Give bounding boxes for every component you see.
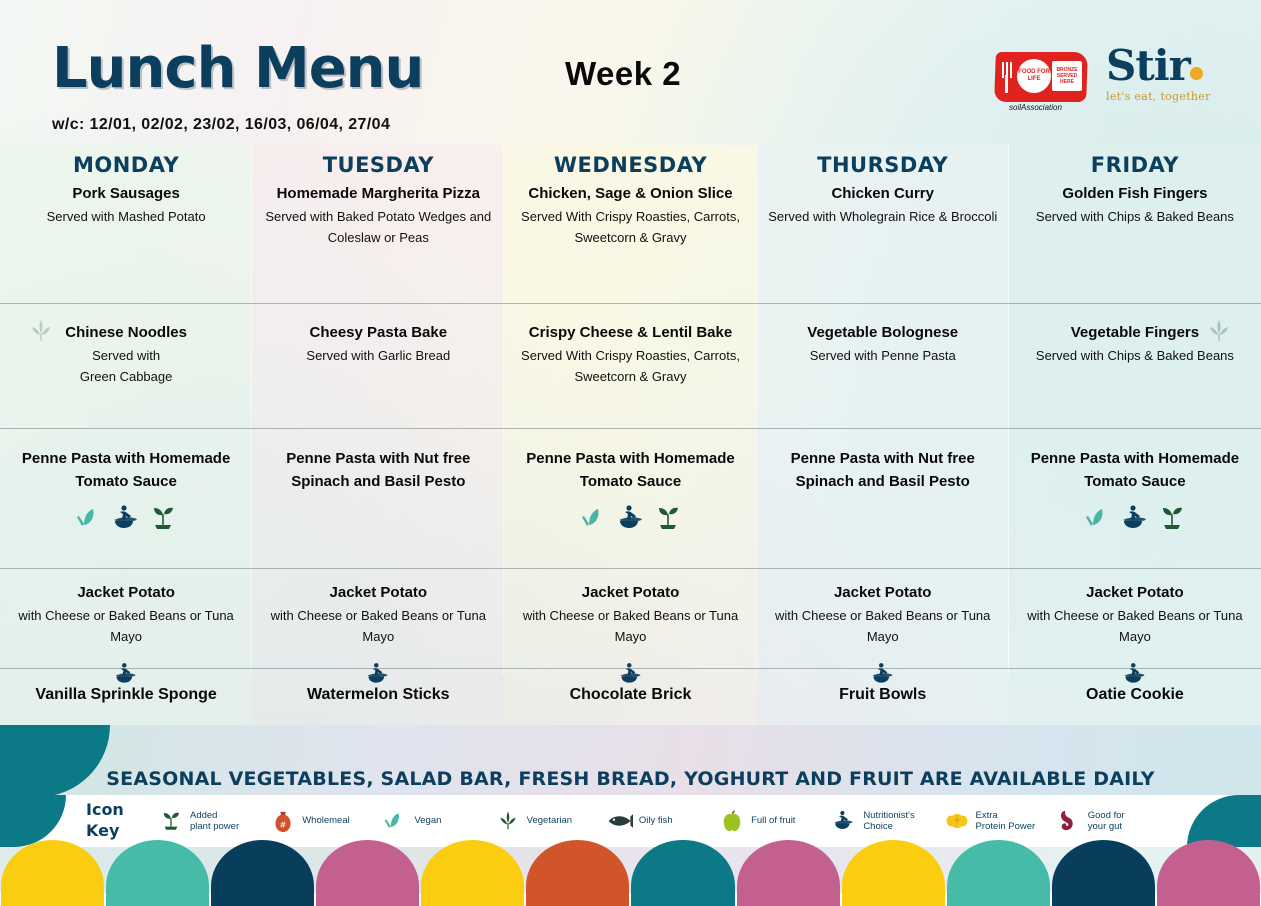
dessert-name: Watermelon Sticks (252, 668, 504, 704)
key-label-line2: Choice (863, 821, 893, 832)
main-dish-name: Pork Sausages (10, 182, 242, 205)
key-label-line1: Vegetarian (527, 815, 572, 826)
nutritionists-choice-icon (111, 503, 141, 533)
nutritionists-choice-icon (1120, 503, 1150, 533)
jacket-potato-row: Jacket Potato with Cheese or Baked Beans… (1009, 568, 1261, 668)
jacket-dish-name: Jacket Potato (1019, 581, 1251, 604)
main-dish-sub: Served with Chips & Baked Beans (1019, 206, 1251, 227)
jacket-dish-name: Jacket Potato (767, 581, 999, 604)
bronze-badge: BRONZE SERVED HERE (1052, 61, 1082, 91)
key-label-line1: Full of fruit (751, 815, 795, 826)
good-for-your-gut-icon (1056, 808, 1082, 834)
scallop (737, 840, 840, 906)
dessert-name: Chocolate Brick (504, 668, 756, 704)
vegetarian-dish-row: Cheesy Pasta Bake Served with Garlic Bre… (252, 303, 504, 428)
main-dish-name: Homemade Margherita Pizza (262, 182, 494, 205)
dessert-name: Vanilla Sprinkle Sponge (0, 668, 252, 704)
key-label-line2: your gut (1088, 821, 1122, 832)
key-label-line1: Added (190, 810, 217, 821)
icon-key-line2: Key (86, 820, 124, 841)
vegetarian-dish-row: Vegetable Fingers Served with Chips & Ba… (1009, 303, 1261, 428)
added-plant-power-icon (158, 808, 184, 834)
association-word: Association (1021, 103, 1062, 112)
scallop (947, 840, 1050, 906)
stir-dot-icon (1190, 67, 1203, 80)
pasta-dish-name: Penne Pasta with Homemade Tomato Sauce (1019, 447, 1251, 493)
key-label-line1: Vegan (414, 815, 441, 826)
key-label: Full of fruit (751, 815, 795, 827)
scallop (1157, 840, 1260, 906)
vegetarian-icon (495, 808, 521, 834)
key-label-line1: Wholemeal (302, 815, 350, 826)
scallop (526, 840, 629, 906)
veg-dish-name: Chinese Noodles (10, 321, 242, 344)
added-plant-power-icon (653, 503, 683, 533)
pasta-row: Penne Pasta with Homemade Tomato Sauce (1009, 428, 1261, 568)
jacket-potato-row: Jacket Potato with Cheese or Baked Beans… (0, 568, 252, 668)
menu-page: Lunch Menu Week 2 w/c: 12/01, 02/02, 23/… (0, 0, 1261, 893)
svg-text:#: # (280, 819, 287, 829)
main-dish-sub: Served with Mashed Potato (10, 206, 242, 227)
pasta-icon-row (504, 499, 756, 533)
pasta-row: Penne Pasta with Homemade Tomato Sauce (504, 428, 756, 568)
key-label-line1: Good for (1088, 810, 1125, 821)
key-item-added-plant-power: Added plant power (158, 808, 270, 834)
day-heading: THURSDAY (757, 153, 1009, 177)
icon-key-line1: Icon (86, 799, 124, 820)
day-column-thursday: THURSDAY Chicken Curry Served with Whole… (757, 145, 1009, 725)
key-label: Added plant power (190, 810, 239, 833)
page-header: Lunch Menu Week 2 w/c: 12/01, 02/02, 23/… (0, 0, 1261, 145)
jacket-dish-sub: with Cheese or Baked Beans or Tuna Mayo (10, 605, 242, 647)
key-item-vegan: Vegan (382, 808, 494, 834)
week-commencing-dates: w/c: 12/01, 02/02, 23/02, 16/03, 06/04, … (52, 116, 390, 134)
nutritionists-choice-icon (616, 503, 646, 533)
dessert-row: Vanilla Sprinkle Sponge (0, 668, 252, 730)
jacket-dish-name: Jacket Potato (262, 581, 494, 604)
main-dish-row: THURSDAY Chicken Curry Served with Whole… (757, 153, 1009, 303)
added-plant-power-icon (1157, 503, 1187, 533)
pasta-row: Penne Pasta with Homemade Tomato Sauce (0, 428, 252, 568)
page-title: Lunch Menu (52, 36, 423, 101)
day-column-monday: MONDAY Pork Sausages Served with Mashed … (0, 145, 252, 725)
main-dish-row: MONDAY Pork Sausages Served with Mashed … (0, 153, 252, 303)
vegan-icon (579, 503, 609, 533)
day-heading: TUESDAY (252, 153, 504, 177)
banner-text: SEASONAL VEGETABLES, SALAD BAR, FRESH BR… (0, 768, 1261, 790)
key-item-full-of-fruit: Full of fruit (719, 808, 831, 834)
main-dish-sub: Served with Baked Potato Wedges and Cole… (262, 206, 494, 248)
icon-key-heading: Icon Key (86, 799, 124, 841)
stir-wordmark: Stir (1106, 44, 1211, 88)
key-item-extra-protein-power: Extra Protein Power (944, 808, 1056, 834)
pasta-row: Penne Pasta with Nut free Spinach and Ba… (757, 428, 1009, 568)
scallop-decoration (0, 840, 1261, 893)
jacket-potato-row: Jacket Potato with Cheese or Baked Beans… (757, 568, 1009, 668)
key-label-line1: Oily fish (639, 815, 673, 826)
key-item-vegetarian: Vegetarian (495, 808, 607, 834)
jacket-potato-row: Jacket Potato with Cheese or Baked Beans… (252, 568, 504, 668)
dessert-name: Fruit Bowls (757, 668, 1009, 704)
scallop (1052, 840, 1155, 906)
day-column-wednesday: WEDNESDAY Chicken, Sage & Onion Slice Se… (504, 145, 756, 725)
vegetarian-dish-row: Vegetable Bolognese Served with Penne Pa… (757, 303, 1009, 428)
scallop (842, 840, 945, 906)
dessert-name: Oatie Cookie (1009, 668, 1261, 704)
menu-grid: MONDAY Pork Sausages Served with Mashed … (0, 145, 1261, 725)
day-heading: WEDNESDAY (504, 153, 756, 177)
veg-dish-sub: Served with Green Cabbage (10, 345, 242, 387)
vegetarian-dish-row: Crispy Cheese & Lentil Bake Served With … (504, 303, 756, 428)
main-dish-row: TUESDAY Homemade Margherita Pizza Served… (252, 153, 504, 303)
day-heading: FRIDAY (1009, 153, 1261, 177)
main-dish-sub: Served with Wholegrain Rice & Broccoli (767, 206, 999, 227)
oily-fish-icon (607, 808, 633, 834)
main-dish-name: Golden Fish Fingers (1019, 182, 1251, 205)
stir-tagline: let's eat, together (1106, 90, 1211, 103)
main-dish-sub: Served With Crispy Roasties, Carrots, Sw… (514, 206, 746, 248)
vegan-icon (382, 808, 408, 834)
main-dish-row: WEDNESDAY Chicken, Sage & Onion Slice Se… (504, 153, 756, 303)
key-label: Good for your gut (1088, 810, 1125, 833)
key-item-wholemeal: # Wholemeal (270, 808, 382, 834)
veg-dish-sub: Served with Garlic Bread (262, 345, 494, 366)
nutritionists-choice-icon (831, 808, 857, 834)
jacket-dish-sub: with Cheese or Baked Beans or Tuna Mayo (514, 605, 746, 647)
scallop (631, 840, 734, 906)
dessert-row: Chocolate Brick (504, 668, 756, 730)
extra-protein-power-icon (944, 808, 970, 834)
key-label: Vegan (414, 815, 441, 827)
key-label: Oily fish (639, 815, 673, 827)
veg-dish-sub: Served With Crispy Roasties, Carrots, Sw… (514, 345, 746, 387)
pasta-dish-name: Penne Pasta with Homemade Tomato Sauce (10, 447, 242, 493)
scallop (211, 840, 314, 906)
key-item-good-for-your-gut: Good for your gut (1056, 808, 1168, 834)
veg-dish-sub: Served with Penne Pasta (767, 345, 999, 366)
key-item-oily-fish: Oily fish (607, 808, 719, 834)
food-for-life-logo: FOOD FOR LIFE BRONZE SERVED HERE soilAss… (995, 52, 1087, 114)
veg-dish-name: Cheesy Pasta Bake (262, 321, 494, 344)
key-label: Nutritionist's Choice (863, 810, 914, 833)
dessert-row: Fruit Bowls (757, 668, 1009, 730)
veg-dish-name: Crispy Cheese & Lentil Bake (514, 321, 746, 344)
dessert-row: Watermelon Sticks (252, 668, 504, 730)
veg-dish-name: Vegetable Fingers (1019, 321, 1251, 344)
jacket-dish-name: Jacket Potato (514, 581, 746, 604)
pasta-row: Penne Pasta with Nut free Spinach and Ba… (252, 428, 504, 568)
key-label: Vegetarian (527, 815, 572, 827)
key-label-line2: Protein Power (976, 821, 1036, 832)
scallop (316, 840, 419, 906)
vegan-icon (1083, 503, 1113, 533)
soil-word: soil (1009, 103, 1021, 112)
stir-text: Stir (1106, 41, 1190, 90)
week-title: Week 2 (565, 55, 681, 93)
key-label: Extra Protein Power (976, 810, 1036, 833)
pasta-icon-row (1009, 499, 1261, 533)
scallop (106, 840, 209, 906)
jacket-dish-name: Jacket Potato (10, 581, 242, 604)
pasta-icon-row (252, 499, 504, 533)
vegetarian-dish-row: Chinese Noodles Served with Green Cabbag… (0, 303, 252, 428)
key-label-line1: Extra (976, 810, 998, 821)
pasta-dish-name: Penne Pasta with Nut free Spinach and Ba… (767, 447, 999, 493)
full-of-fruit-icon (719, 808, 745, 834)
day-heading: MONDAY (0, 153, 252, 177)
key-label-line2: plant power (190, 821, 239, 832)
soil-association-text: soilAssociation (1009, 102, 1062, 112)
wholemeal-icon: # (270, 808, 296, 834)
main-dish-name: Chicken, Sage & Onion Slice (514, 182, 746, 205)
veg-dish-sub: Served with Chips & Baked Beans (1019, 345, 1251, 366)
day-column-friday: FRIDAY Golden Fish Fingers Served with C… (1009, 145, 1261, 725)
vegan-icon (74, 503, 104, 533)
scallop (421, 840, 524, 906)
day-column-tuesday: TUESDAY Homemade Margherita Pizza Served… (252, 145, 504, 725)
key-label: Wholemeal (302, 815, 350, 827)
added-plant-power-icon (148, 503, 178, 533)
main-dish-name: Chicken Curry (767, 182, 999, 205)
key-label-line1: Nutritionist's (863, 810, 914, 821)
pasta-icon-row (0, 499, 252, 533)
stir-logo: Stir let's eat, together (1106, 44, 1211, 103)
key-item-nutritionists-choice: Nutritionist's Choice (831, 808, 943, 834)
food-for-life-badge: FOOD FOR LIFE (1017, 59, 1051, 93)
veg-dish-name: Vegetable Bolognese (767, 321, 999, 344)
pasta-dish-name: Penne Pasta with Homemade Tomato Sauce (514, 447, 746, 493)
jacket-potato-row: Jacket Potato with Cheese or Baked Beans… (504, 568, 756, 668)
scallop (1, 840, 104, 906)
dessert-row: Oatie Cookie (1009, 668, 1261, 730)
jacket-dish-sub: with Cheese or Baked Beans or Tuna Mayo (767, 605, 999, 647)
pasta-dish-name: Penne Pasta with Nut free Spinach and Ba… (262, 447, 494, 493)
jacket-dish-sub: with Cheese or Baked Beans or Tuna Mayo (1019, 605, 1251, 647)
jacket-dish-sub: with Cheese or Baked Beans or Tuna Mayo (262, 605, 494, 647)
main-dish-row: FRIDAY Golden Fish Fingers Served with C… (1009, 153, 1261, 303)
pasta-icon-row (757, 499, 1009, 533)
fork-icon (1001, 62, 1015, 92)
